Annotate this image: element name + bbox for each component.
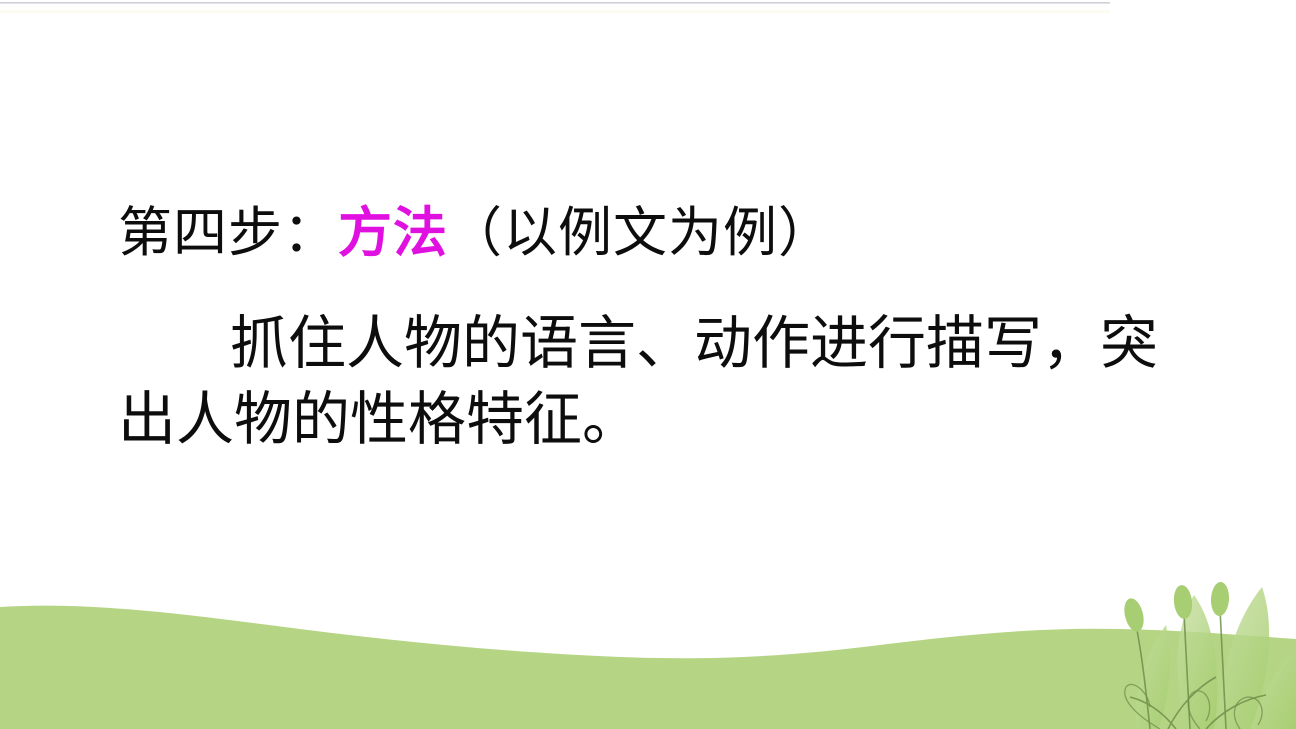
cattail-bud: [1210, 582, 1230, 617]
cattail-bud: [1121, 596, 1147, 633]
top-edge-rule: [0, 2, 1110, 4]
grass-plant-icon: [1121, 582, 1296, 729]
top-edge-rule-secondary: [0, 10, 1110, 13]
green-hill-shape: [0, 606, 1296, 729]
decoration-svg: [0, 429, 1296, 729]
body-line-1: 抓住人物的语言、动作进行描写，突: [118, 306, 1158, 382]
heading-prefix: 第四步：: [118, 203, 338, 263]
bottom-decoration: [0, 429, 1296, 729]
slide-canvas: 第四步：方法（以例文为例） 抓住人物的语言、动作进行描写，突 出人物的性格特征。: [0, 0, 1296, 729]
body-line-2-text: 出人物的性格特征。: [118, 387, 640, 452]
heading-accent: 方法: [338, 203, 448, 263]
heading-suffix: （以例文为例）: [448, 203, 833, 263]
body-line-1-text: 抓住人物的语言、动作进行描写，突: [230, 311, 1158, 376]
body-line-2: 出人物的性格特征。: [118, 382, 640, 458]
heading-line: 第四步：方法（以例文为例）: [118, 198, 833, 268]
cattail-bud: [1172, 584, 1193, 620]
